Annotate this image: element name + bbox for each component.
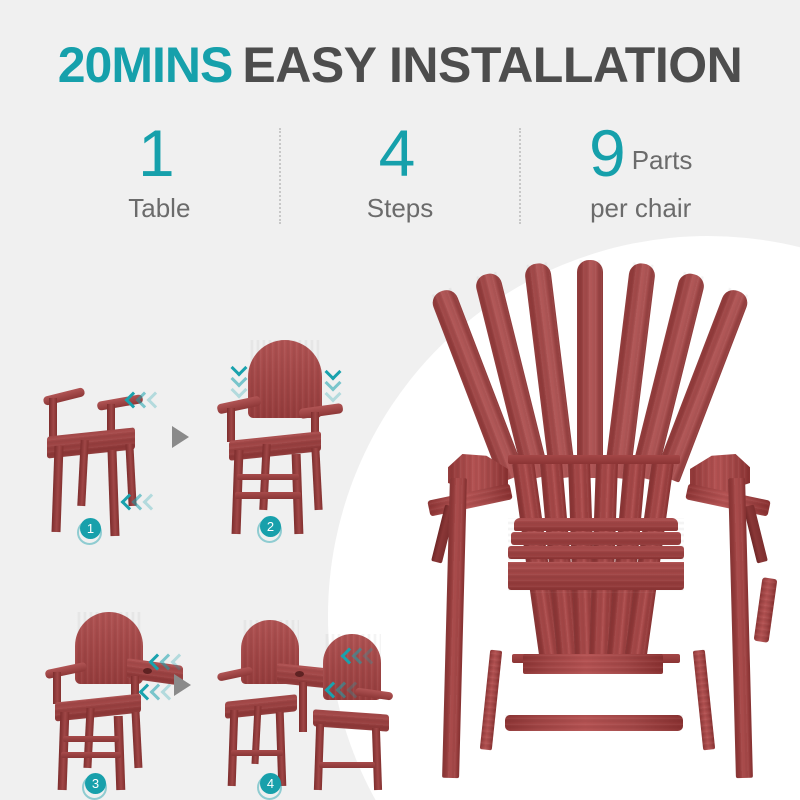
lower-cross-bar bbox=[523, 654, 663, 674]
backrest-fan-slat bbox=[577, 260, 603, 478]
step1-post-left bbox=[49, 398, 57, 438]
step-2: 2 bbox=[215, 340, 365, 535]
step4-footrest-right bbox=[319, 762, 375, 768]
step-3: 3 bbox=[35, 612, 195, 792]
step4-table-hole bbox=[295, 671, 304, 677]
step-arrow-3-to-4 bbox=[174, 674, 191, 696]
step4-leg-right-front bbox=[314, 724, 324, 790]
step3-leg-back-right bbox=[132, 712, 143, 768]
stat-parts-inline: Parts bbox=[632, 145, 693, 176]
stats-row: 1 Table 4 Steps 9 Parts per chair bbox=[40, 122, 760, 238]
step2-badge: 2 bbox=[260, 516, 281, 537]
stat-steps: 4 Steps bbox=[281, 122, 520, 222]
step3-badge: 3 bbox=[85, 773, 106, 794]
page-title: 20MINSEASY INSTALLATION bbox=[0, 36, 800, 94]
step2-chevrons-right bbox=[327, 366, 339, 399]
stat-steps-label: Steps bbox=[367, 194, 434, 222]
step3-post-left bbox=[53, 672, 61, 704]
step2-stretcher bbox=[237, 474, 299, 480]
step4-leg-left-front bbox=[228, 710, 239, 786]
side-stretcher-left bbox=[480, 650, 502, 751]
step1-leg-front-right bbox=[108, 450, 120, 536]
stat-table: 1 Table bbox=[40, 122, 279, 222]
step-1: 1 bbox=[35, 380, 175, 530]
short-spacer-bar bbox=[754, 577, 778, 642]
step1-badge: 1 bbox=[80, 518, 101, 539]
step2-footrest bbox=[235, 492, 301, 499]
stat-parts: 9 Parts per chair bbox=[521, 122, 760, 222]
step4-chevrons-upper bbox=[343, 650, 376, 662]
step2-chevrons-left bbox=[233, 362, 245, 395]
step1-leg-front-left bbox=[52, 446, 64, 532]
step4-table-post bbox=[299, 682, 307, 732]
step2-leg-back-right bbox=[311, 448, 322, 510]
step3-footrest bbox=[61, 752, 121, 758]
seat-assembly bbox=[508, 518, 684, 593]
stat-parts-label: per chair bbox=[590, 194, 691, 222]
step-4: 4 bbox=[215, 612, 395, 792]
title-rest: EASY INSTALLATION bbox=[242, 37, 742, 93]
footrest-bar bbox=[505, 715, 683, 731]
step3-table-hole bbox=[143, 668, 152, 674]
side-stretcher-right bbox=[693, 650, 715, 751]
stat-parts-number: 9 bbox=[589, 122, 626, 184]
step1-chevrons-upper bbox=[127, 394, 160, 406]
title-highlight: 20MINS bbox=[58, 37, 233, 93]
step2-post-left bbox=[227, 408, 235, 442]
exploded-parts-diagram bbox=[400, 250, 800, 800]
back-cross-rail-upper bbox=[508, 455, 680, 464]
step3-leg-front-left bbox=[58, 712, 70, 790]
step3-chevrons-lower bbox=[141, 686, 174, 698]
step4-chevrons-lower bbox=[327, 684, 360, 696]
infographic-canvas: 20MINSEASY INSTALLATION 1 Table 4 Steps … bbox=[0, 0, 800, 800]
stat-table-number: 1 bbox=[138, 122, 175, 184]
step-arrow-1-to-2 bbox=[172, 426, 189, 448]
step1-chevrons-lower bbox=[123, 496, 156, 508]
step3-chevrons-upper bbox=[151, 656, 184, 668]
step3-stretcher bbox=[63, 736, 119, 742]
step4-footrest-left bbox=[231, 750, 283, 756]
step4-leg-right-right bbox=[372, 728, 382, 790]
stat-table-label: Table bbox=[128, 194, 190, 222]
stat-steps-number: 4 bbox=[379, 122, 416, 184]
step4-badge: 4 bbox=[260, 773, 281, 794]
